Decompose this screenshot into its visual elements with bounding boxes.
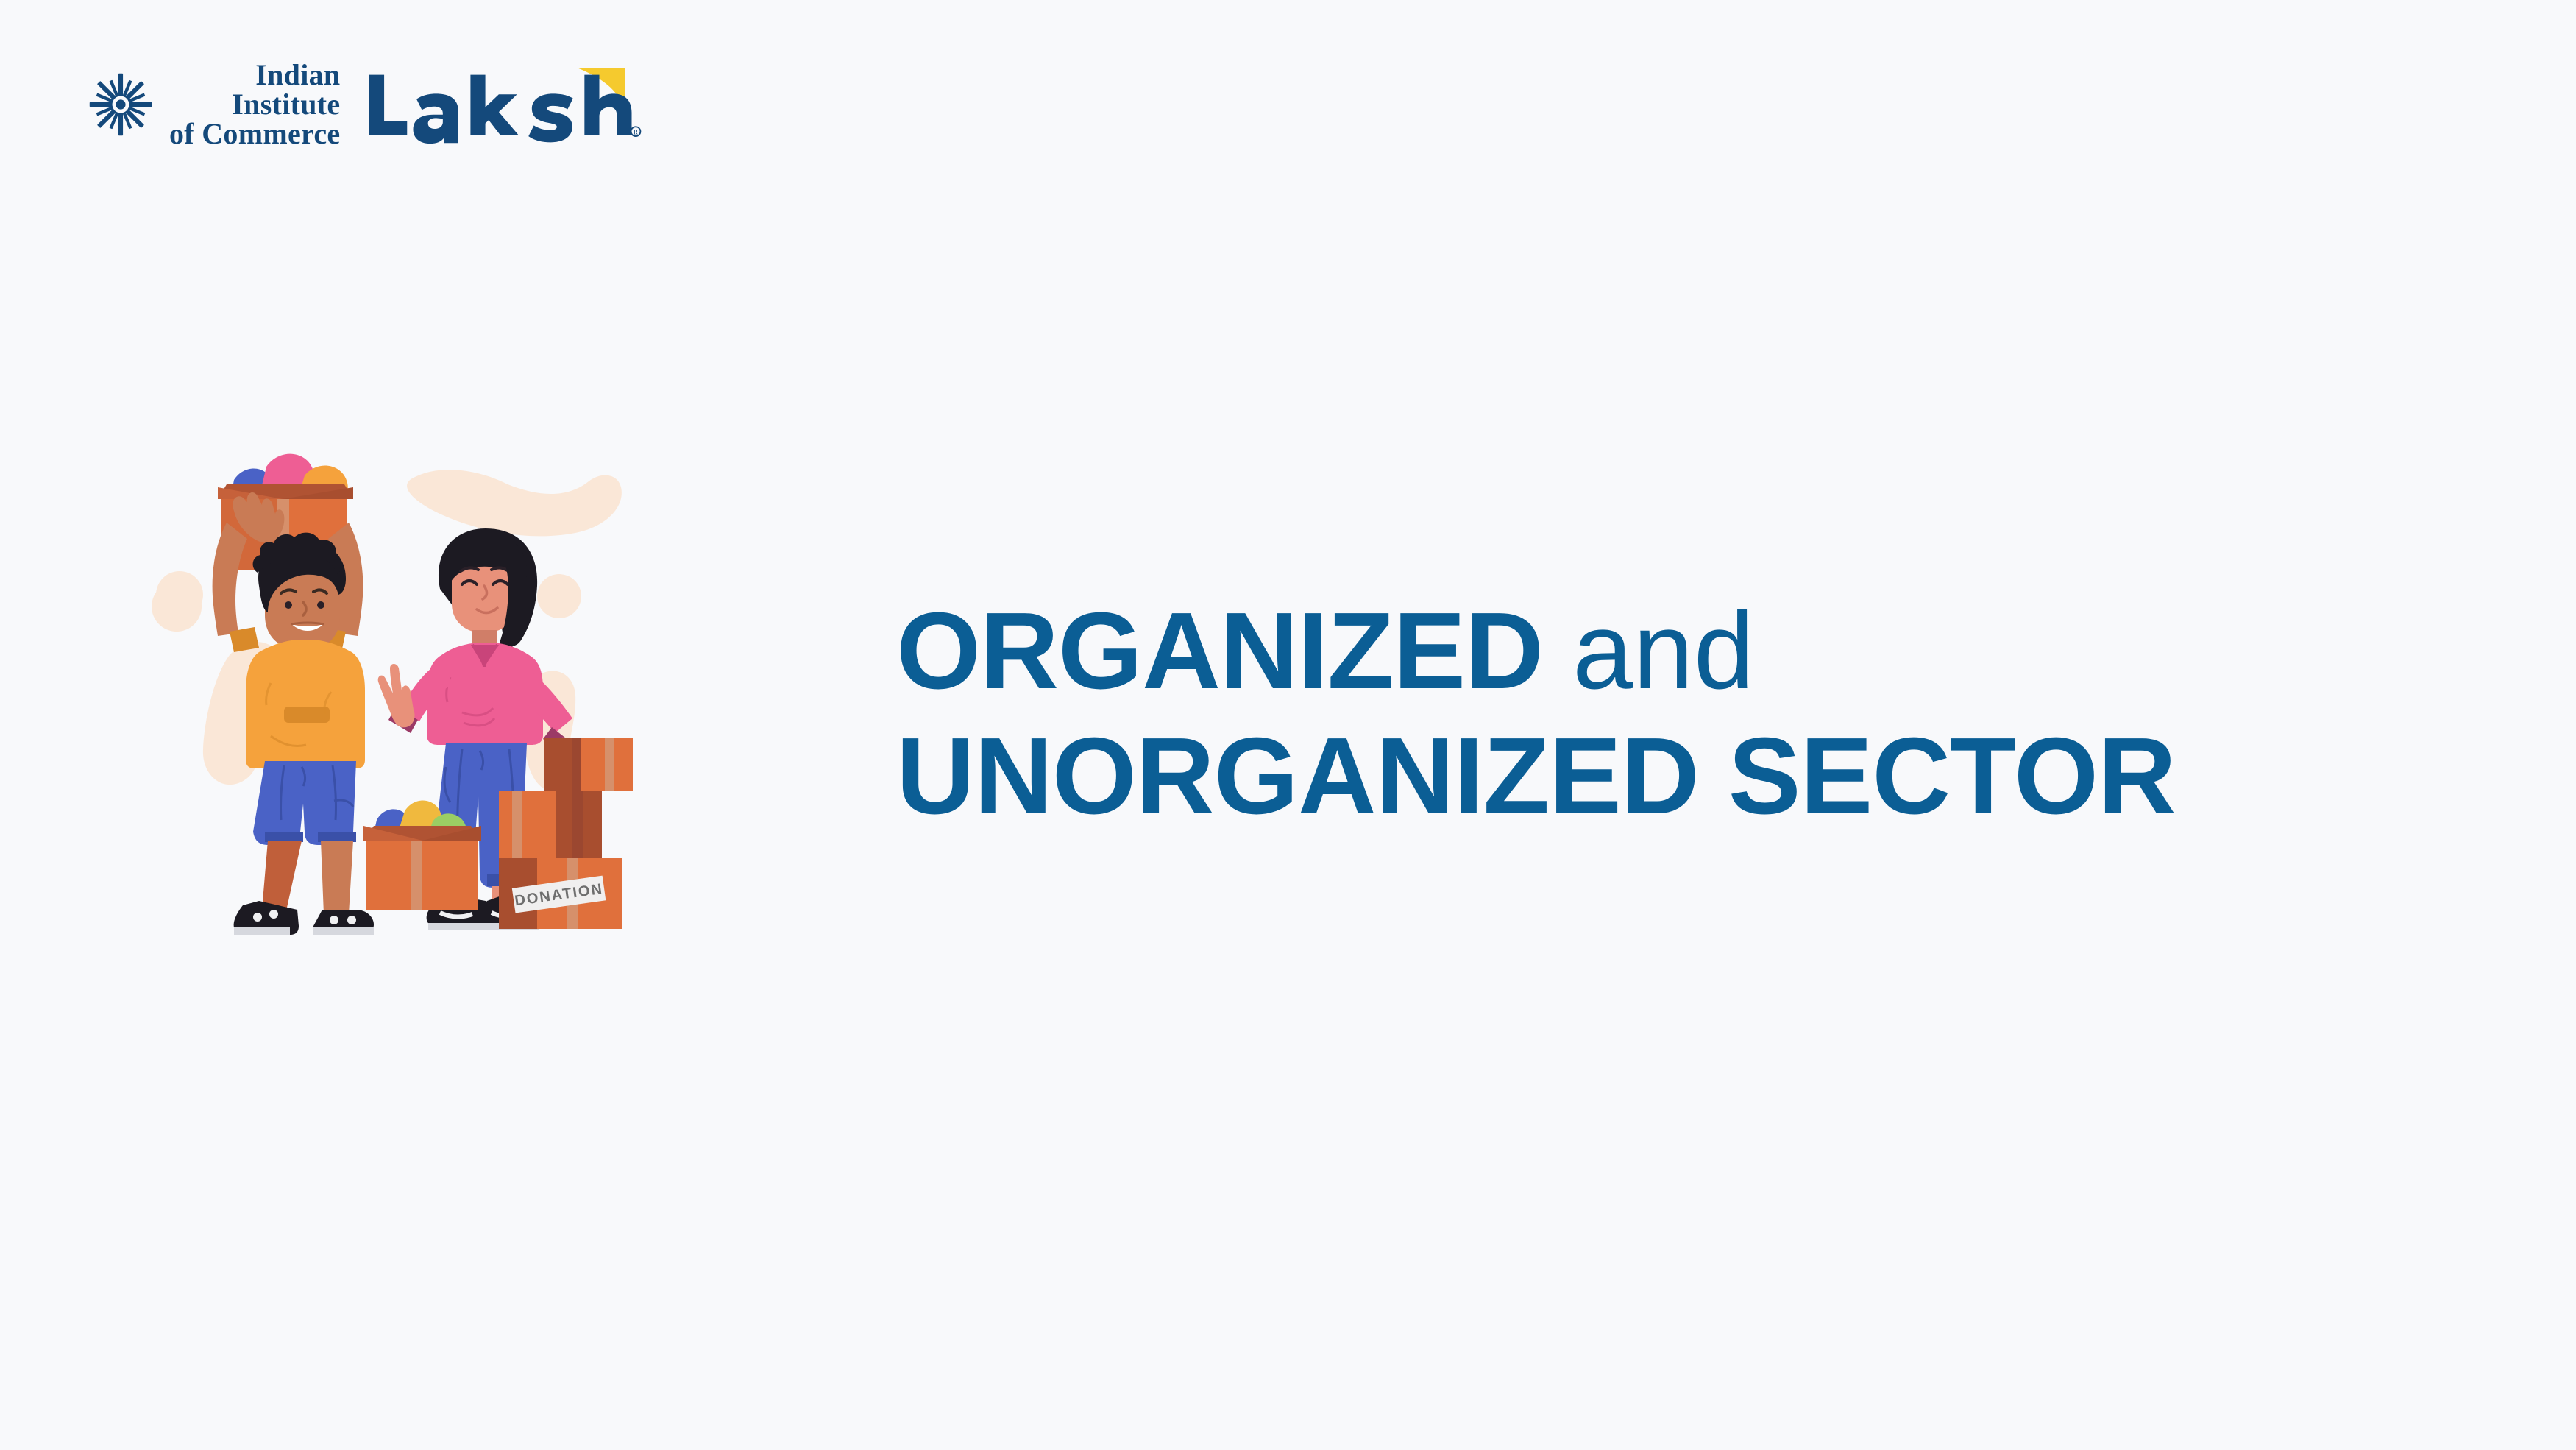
donation-volunteers-illustration: DONATION xyxy=(147,434,736,964)
brand-logo[interactable]: Indian Institute of Commerce xyxy=(88,60,644,149)
institute-line-1: Indian xyxy=(255,60,340,90)
page-title: ORGANIZED and UNORGANIZED SECTOR xyxy=(896,589,2471,839)
title-and: and xyxy=(1572,590,1754,712)
title-line-2: UNORGANIZED SECTOR xyxy=(896,714,2471,839)
title-line-1: ORGANIZED and xyxy=(896,589,2471,714)
institute-line-2: Institute xyxy=(232,90,340,119)
lakshya-logotype: R xyxy=(361,64,644,145)
starburst-icon xyxy=(88,72,153,137)
title-organized: ORGANIZED xyxy=(896,590,1543,712)
registered-mark-icon: R xyxy=(631,127,641,136)
slide-canvas: Indian Institute of Commerce xyxy=(0,0,2576,1450)
lakshya-wordmark: R xyxy=(361,64,644,145)
svg-text:R: R xyxy=(634,128,639,135)
institute-line-3: of Commerce xyxy=(169,119,340,149)
institute-name: Indian Institute of Commerce xyxy=(169,60,340,149)
